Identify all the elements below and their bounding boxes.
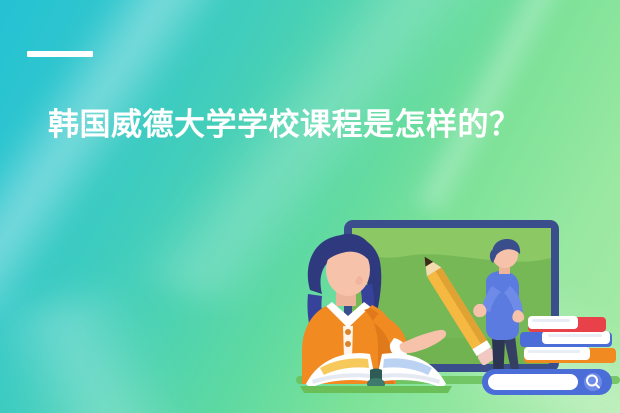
decorative-rule	[27, 51, 93, 57]
book-stack	[520, 316, 616, 363]
page-title: 韩国威德大学学校课程是怎样的？	[48, 103, 588, 147]
orange-book	[524, 347, 616, 363]
search-input	[488, 374, 578, 390]
search-icon	[584, 373, 602, 391]
banner-card: 韩国威德大学学校课程是怎样的？	[0, 0, 620, 413]
red-book	[528, 316, 606, 332]
education-classroom-illustration	[296, 198, 620, 413]
open-book-base	[300, 386, 452, 393]
teacher-button-bottom	[345, 341, 351, 347]
teacher-button-top	[345, 329, 351, 335]
background-sheen-c	[0, 254, 330, 413]
blue-book	[520, 331, 612, 347]
search-bar	[482, 369, 612, 395]
